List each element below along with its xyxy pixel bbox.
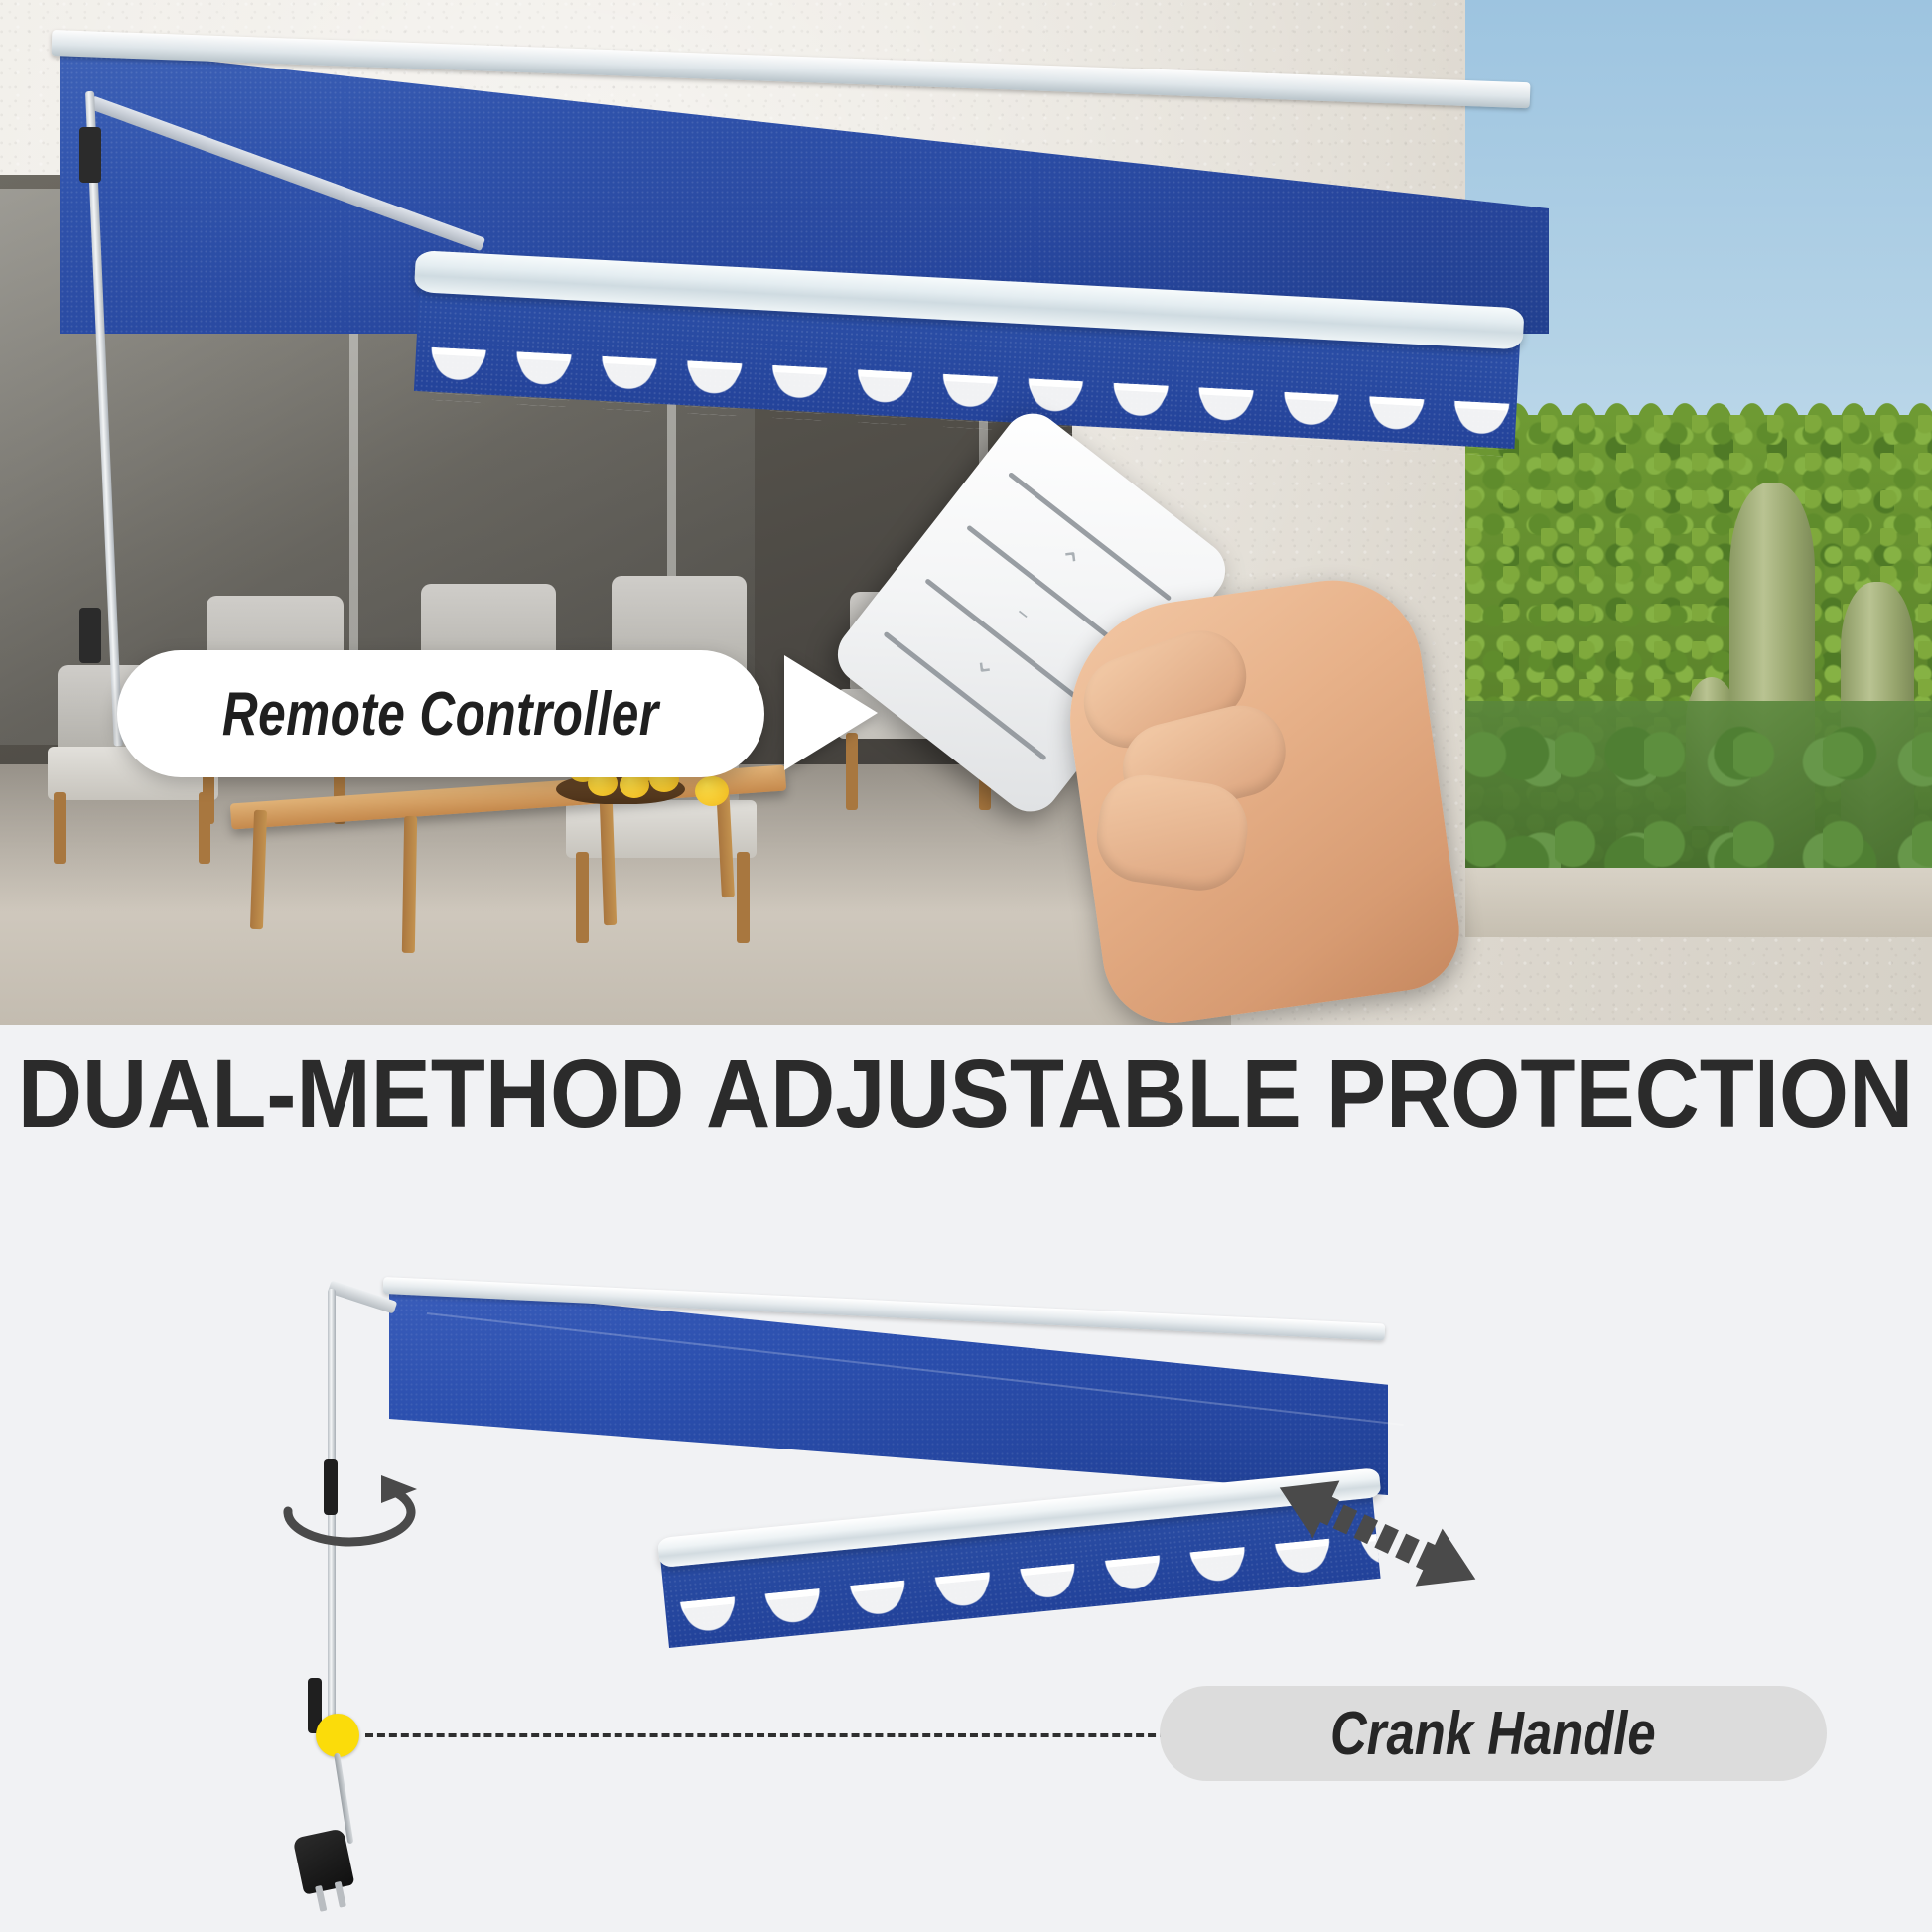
leader-line: [365, 1733, 1168, 1737]
table-leg: [402, 816, 417, 953]
orange-half-icon: [695, 776, 729, 806]
crank-handle-callout: Crank Handle: [1160, 1686, 1827, 1781]
crank-handle-label: Crank Handle: [1330, 1699, 1656, 1769]
headline-banner: DUAL-METHOD ADJUSTABLE PROTECTION: [0, 1027, 1932, 1162]
product-infographic: ⌃ – ⌄ Remote Controller DUAL-METHOD ADJU…: [0, 0, 1932, 1932]
remote-controller-label: Remote Controller: [222, 679, 658, 750]
remote-button-slot[interactable]: [924, 578, 1088, 708]
chevron-up-icon: ⌃: [1045, 541, 1086, 584]
shrubs: [1465, 701, 1932, 880]
lifestyle-photo: ⌃ – ⌄ Remote Controller: [0, 0, 1932, 1025]
paver-path: [1465, 868, 1932, 937]
power-plug-icon: [293, 1828, 355, 1895]
hand-holding-remote: [1055, 569, 1467, 1025]
double-headed-striped-arrow-icon: [1261, 1459, 1489, 1618]
chevron-dash-icon: –: [1011, 599, 1037, 627]
pole-clamp: [79, 127, 101, 183]
page-title: DUAL-METHOD ADJUSTABLE PROTECTION: [18, 1038, 1913, 1150]
pole-clamp: [79, 608, 101, 663]
circular-rotation-arrow-icon: [270, 1459, 429, 1569]
chevron-down-icon: ⌄: [966, 642, 1007, 685]
crank-marker-dot: [316, 1714, 359, 1757]
remote-controller-callout: Remote Controller: [117, 650, 764, 777]
play-triangle-icon: [784, 655, 878, 770]
crank-diagram: [0, 1162, 1932, 1932]
